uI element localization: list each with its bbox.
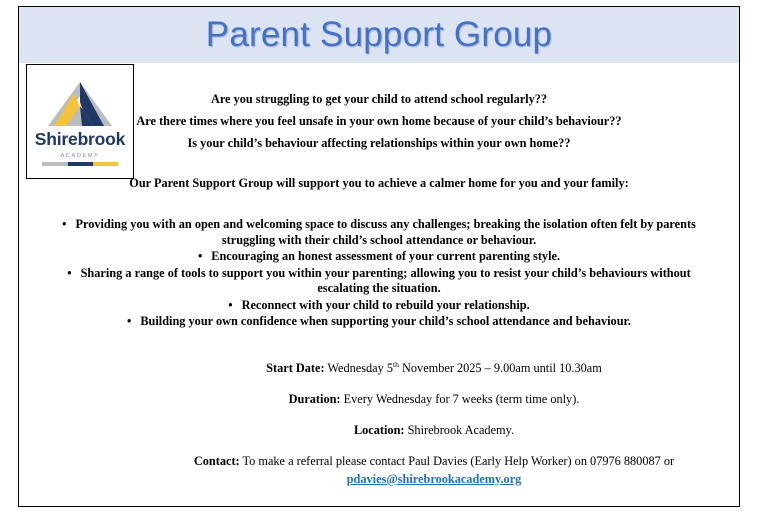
poster-header-band: Parent Support Group bbox=[19, 7, 739, 63]
list-item-label: Building your own confidence when suppor… bbox=[140, 314, 631, 328]
duration-label: Duration: bbox=[289, 392, 341, 406]
bullet-icon: • bbox=[62, 217, 75, 233]
start-date-value-pre: Wednesday 5 bbox=[325, 361, 393, 375]
duration-line: Duration: Every Wednesday for 7 weeks (t… bbox=[169, 390, 699, 408]
school-logo: Shirebrook ACADEMY bbox=[26, 64, 134, 179]
logo-inner: Shirebrook ACADEMY bbox=[27, 65, 133, 178]
logo-bar-navy bbox=[68, 162, 93, 166]
logo-accent-bar bbox=[42, 162, 118, 166]
list-item-label: Sharing a range of tools to support you … bbox=[81, 266, 691, 296]
list-item: •Encouraging an honest assessment of you… bbox=[44, 249, 714, 265]
poster-body: Are you struggling to get your child to … bbox=[19, 63, 739, 506]
location-label: Location: bbox=[354, 423, 405, 437]
location-line: Location: Shirebrook Academy. bbox=[169, 421, 699, 439]
duration-value: Every Wednesday for 7 weeks (term time o… bbox=[341, 392, 580, 406]
contact-label: Contact: bbox=[194, 454, 240, 468]
bullet-icon: • bbox=[198, 249, 211, 265]
logo-bar-gray bbox=[42, 162, 68, 166]
bullet-icon: • bbox=[127, 314, 140, 330]
list-item-label: Reconnect with your child to rebuild you… bbox=[242, 298, 530, 312]
logo-bar-yellow bbox=[93, 162, 118, 166]
bullet-icon: • bbox=[228, 298, 241, 314]
list-item: •Reconnect with your child to rebuild yo… bbox=[44, 298, 714, 314]
details-section: Start Date: Wednesday 5th November 2025 … bbox=[19, 356, 739, 488]
list-item-label: Providing you with an open and welcoming… bbox=[75, 217, 695, 247]
contact-value: To make a referral please contact Paul D… bbox=[240, 454, 674, 468]
list-item: •Providing you with an open and welcomin… bbox=[44, 217, 714, 248]
benefits-list: •Providing you with an open and welcomin… bbox=[19, 217, 739, 330]
contact-email-link[interactable]: pdavies@shirebrookacademy.org bbox=[347, 472, 522, 486]
logo-wordmark: Shirebrook bbox=[35, 129, 125, 150]
poster-container: Parent Support Group Are you struggling … bbox=[18, 6, 740, 507]
list-item: •Sharing a range of tools to support you… bbox=[44, 266, 714, 297]
start-date-value-post: November 2025 – 9.00am until 10.30am bbox=[399, 361, 602, 375]
start-date-label: Start Date: bbox=[266, 361, 324, 375]
bullet-icon: • bbox=[67, 266, 80, 282]
contact-line: Contact: To make a referral please conta… bbox=[169, 452, 699, 488]
shirebrook-triangle-icon bbox=[44, 80, 116, 128]
logo-subtitle: ACADEMY bbox=[61, 153, 100, 159]
start-date-line: Start Date: Wednesday 5th November 2025 … bbox=[169, 356, 699, 377]
location-value: Shirebrook Academy. bbox=[405, 423, 515, 437]
list-item: •Building your own confidence when suppo… bbox=[44, 314, 714, 330]
list-item-label: Encouraging an honest assessment of your… bbox=[211, 249, 560, 263]
page-title: Parent Support Group bbox=[206, 15, 552, 55]
